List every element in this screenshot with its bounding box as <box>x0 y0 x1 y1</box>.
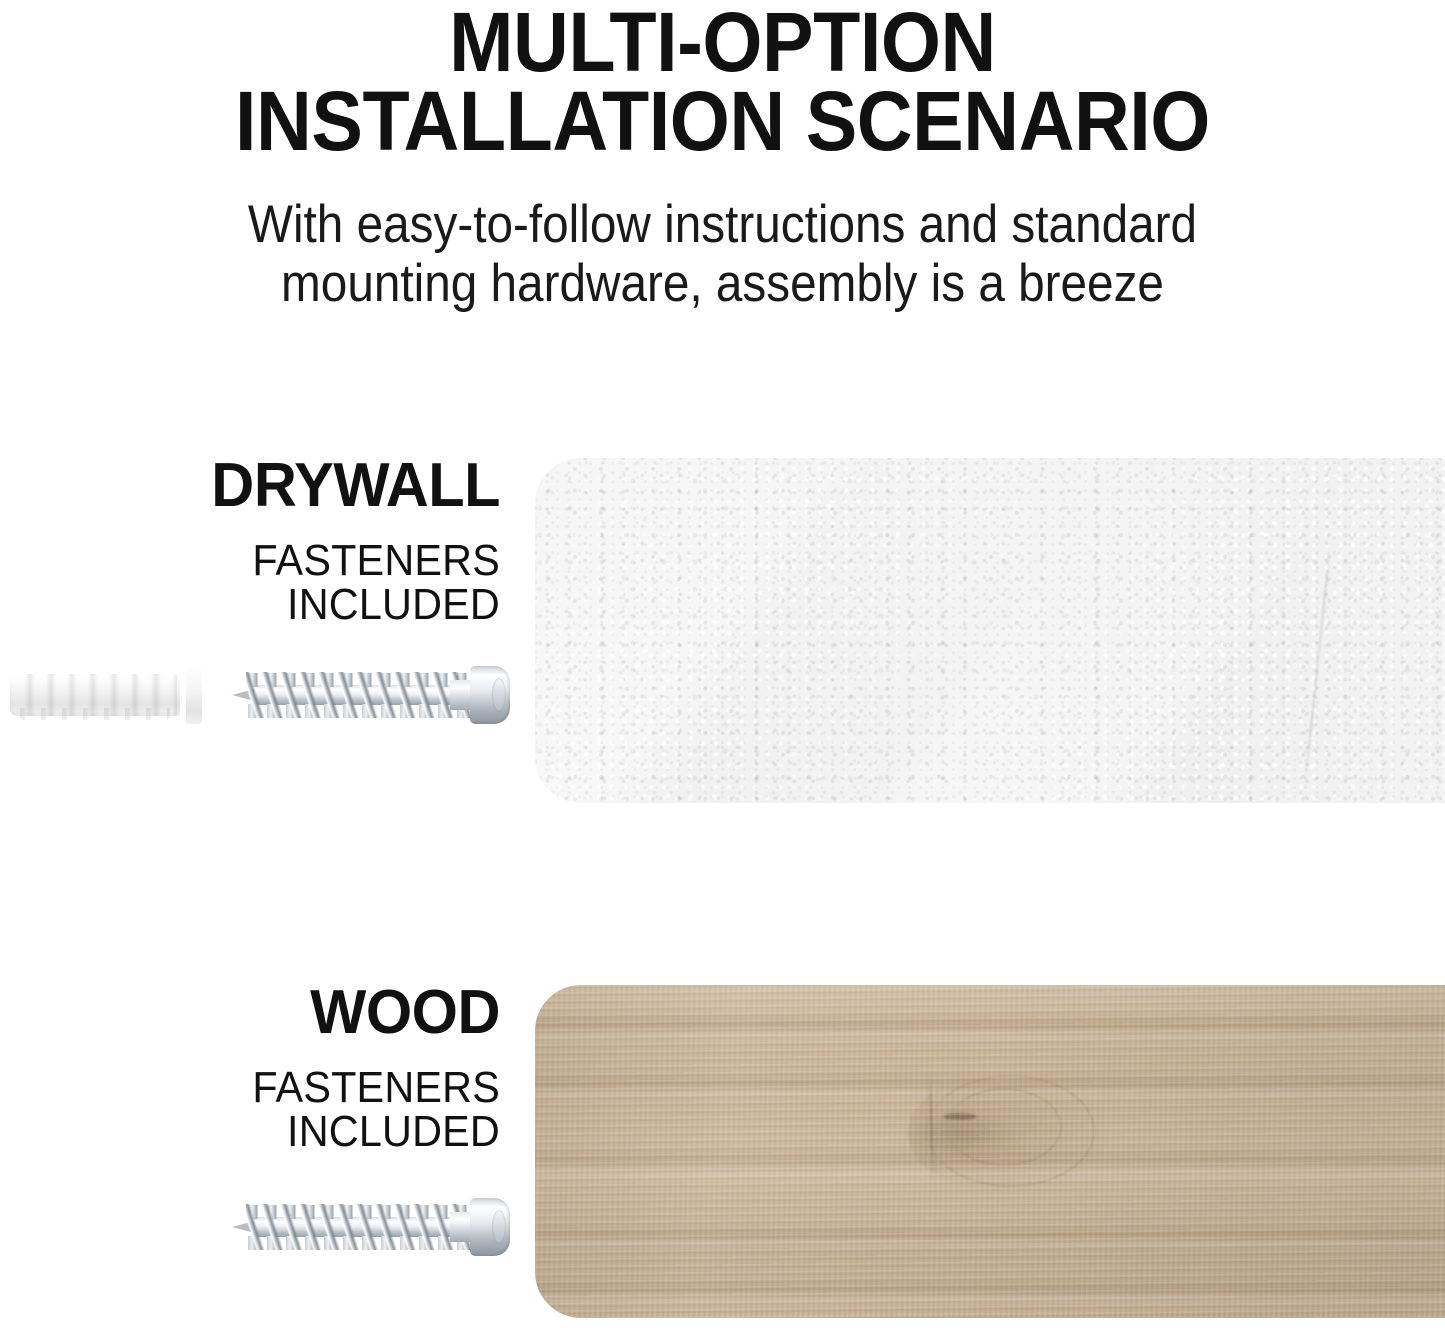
drywall-subtitle: FASTENERS INCLUDED <box>30 539 500 627</box>
wall-anchor-icon <box>10 664 202 726</box>
screw-threads <box>246 1204 472 1250</box>
screw-icon <box>232 1198 510 1256</box>
page-subtitle-line-1: With easy-to-follow instructions and sta… <box>72 195 1373 255</box>
screw-neck <box>450 1212 472 1242</box>
screw-threads <box>246 672 472 718</box>
header: MULTI-OPTION INSTALLATION SCENARIO With … <box>0 0 1445 330</box>
wood-label-column: WOOD FASTENERS INCLUDED <box>0 982 500 1154</box>
screw-head-ring <box>492 1210 506 1244</box>
wood-section: WOOD FASTENERS INCLUDED <box>0 982 1445 1334</box>
drywall-section: DRYWALL FASTENERS INCLUDED <box>0 455 1445 815</box>
screw-neck <box>450 680 472 710</box>
page-subtitle: With easy-to-follow instructions and sta… <box>72 195 1373 315</box>
wall-anchor-collar <box>186 666 202 724</box>
drywall-label-column: DRYWALL FASTENERS INCLUDED <box>0 455 500 627</box>
page-subtitle-line-2: mounting hardware, assembly is a breeze <box>72 254 1373 314</box>
wood-hardware-row <box>0 1182 510 1272</box>
page-title-line-1: MULTI-OPTION <box>58 0 1387 81</box>
wood-subtitle: FASTENERS INCLUDED <box>30 1066 500 1154</box>
wood-title: WOOD <box>20 982 500 1044</box>
wall-anchor-notches <box>20 708 170 720</box>
drywall-hardware-row <box>0 650 510 740</box>
screw-icon <box>232 666 510 724</box>
screw-head <box>470 666 510 724</box>
screw-head-ring <box>492 678 506 712</box>
drywall-title: DRYWALL <box>20 455 500 517</box>
page-title-line-2: INSTALLATION SCENARIO <box>58 81 1387 160</box>
screw-head <box>470 1198 510 1256</box>
